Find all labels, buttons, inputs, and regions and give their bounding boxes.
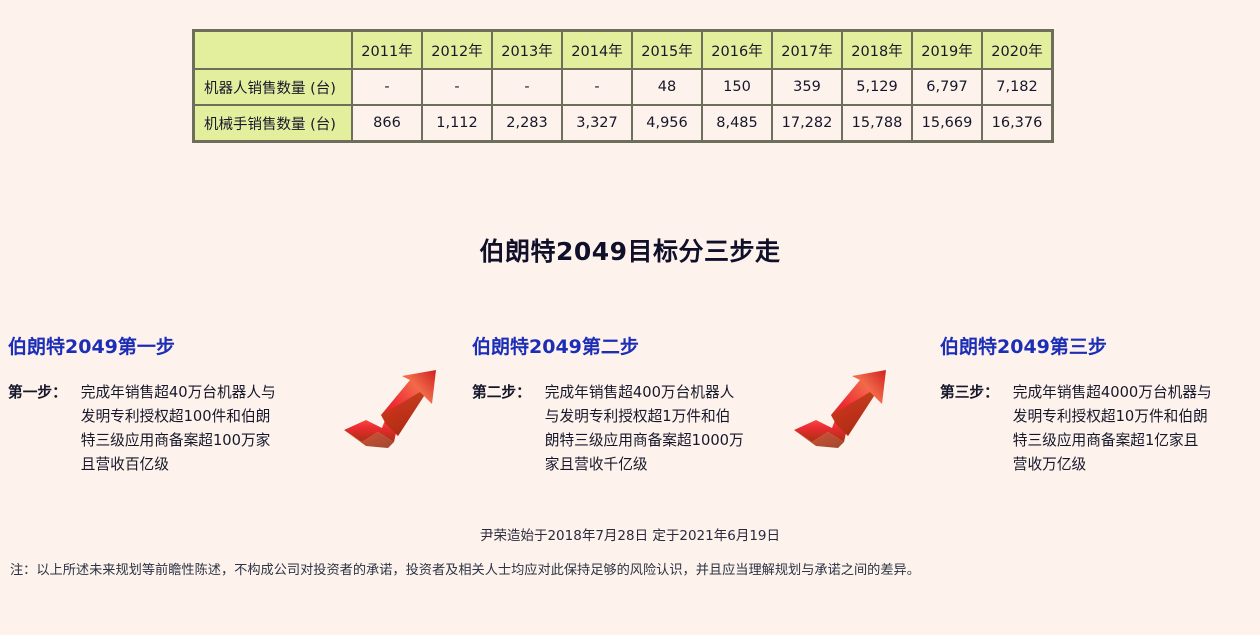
column-header-2017: 2017年 [773, 32, 841, 68]
step-block-1: 伯朗特2049第一步 第一步： 完成年销售超40万台机器人与 发明专利授权超10… [8, 332, 338, 477]
cell-manipulator-2018: 15,788 [843, 106, 911, 140]
step-2-label: 第二步： [472, 381, 545, 405]
step-2-text: 完成年销售超400万台机器人 与发明专利授权超1万件和伯 朗特三级应用商备案超1… [545, 381, 772, 477]
cell-robot-2013: - [493, 70, 561, 104]
cell-robot-2017: 359 [773, 70, 841, 104]
step-1-line-2: 发明专利授权超100件和伯朗 [81, 405, 338, 429]
column-header-2015: 2015年 [633, 32, 701, 68]
cell-robot-2012: - [423, 70, 491, 104]
step-1-heading: 伯朗特2049第一步 [8, 332, 338, 359]
step-1-line-3: 特三级应用商备案超100万家 [81, 429, 338, 453]
sales-table-body: 2011年 2012年 2013年 2014年 2015年 2016年 2017… [195, 32, 1051, 140]
step-2-heading: 伯朗特2049第二步 [472, 332, 772, 359]
cell-manipulator-2013: 2,283 [493, 106, 561, 140]
growth-arrow-icon [336, 368, 446, 460]
cell-robot-2018: 5,129 [843, 70, 911, 104]
step-3-label: 第三步： [940, 381, 1013, 405]
step-3-line-1: 完成年销售超4000万台机器与 [1013, 381, 1250, 405]
cell-robot-2015: 48 [633, 70, 701, 104]
steps-section: 伯朗特2049第一步 第一步： 完成年销售超40万台机器人与 发明专利授权超10… [0, 332, 1260, 512]
step-1-body: 第一步： 完成年销售超40万台机器人与 发明专利授权超100件和伯朗 特三级应用… [8, 381, 338, 477]
growth-arrow-icon [786, 368, 896, 460]
cell-manipulator-2011: 866 [353, 106, 421, 140]
step-3-body: 第三步： 完成年销售超4000万台机器与 发明专利授权超10万件和伯朗 特三级应… [940, 381, 1250, 477]
step-1-text: 完成年销售超40万台机器人与 发明专利授权超100件和伯朗 特三级应用商备案超1… [81, 381, 338, 477]
cell-manipulator-2016: 8,485 [703, 106, 771, 140]
cell-robot-2019: 6,797 [913, 70, 981, 104]
step-3-text: 完成年销售超4000万台机器与 发明专利授权超10万件和伯朗 特三级应用商备案超… [1013, 381, 1250, 477]
sales-table: 2011年 2012年 2013年 2014年 2015年 2016年 2017… [192, 29, 1054, 143]
step-3-heading: 伯朗特2049第三步 [940, 332, 1250, 359]
column-header-2018: 2018年 [843, 32, 911, 68]
step-2-line-2: 与发明专利授权超1万件和伯 [545, 405, 772, 429]
column-header-2014: 2014年 [563, 32, 631, 68]
cell-manipulator-2012: 1,112 [423, 106, 491, 140]
cell-robot-2011: - [353, 70, 421, 104]
column-header-2013: 2013年 [493, 32, 561, 68]
cell-manipulator-2017: 17,282 [773, 106, 841, 140]
page-title: 伯朗特2049目标分三步走 [0, 232, 1260, 268]
sales-table-container: 2011年 2012年 2013年 2014年 2015年 2016年 2017… [192, 29, 1054, 143]
step-1-line-4: 且营收百亿级 [81, 453, 338, 477]
step-2-line-3: 朗特三级应用商备案超1000万 [545, 429, 772, 453]
table-row: 机械手销售数量 (台) 866 1,112 2,283 3,327 4,956 … [195, 106, 1051, 140]
cell-robot-2014: - [563, 70, 631, 104]
column-header-2016: 2016年 [703, 32, 771, 68]
step-block-3: 伯朗特2049第三步 第三步： 完成年销售超4000万台机器与 发明专利授权超1… [940, 332, 1250, 477]
cell-manipulator-2020: 16,376 [983, 106, 1051, 140]
column-header-2012: 2012年 [423, 32, 491, 68]
step-3-line-4: 营收万亿级 [1013, 453, 1250, 477]
step-3-line-3: 特三级应用商备案超1亿家且 [1013, 429, 1250, 453]
cell-robot-2020: 7,182 [983, 70, 1051, 104]
cell-manipulator-2019: 15,669 [913, 106, 981, 140]
row-label-manipulator-sales: 机械手销售数量 (台) [195, 106, 351, 140]
credit-line: 尹荣造始于2018年7月28日 定于2021年6月19日 [0, 524, 1260, 544]
column-header-2011: 2011年 [353, 32, 421, 68]
cell-manipulator-2015: 4,956 [633, 106, 701, 140]
table-corner-cell [195, 32, 351, 68]
cell-manipulator-2014: 3,327 [563, 106, 631, 140]
row-label-robot-sales: 机器人销售数量 (台) [195, 70, 351, 104]
step-2-line-1: 完成年销售超400万台机器人 [545, 381, 772, 405]
step-1-label: 第一步： [8, 381, 81, 405]
table-row: 机器人销售数量 (台) - - - - 48 150 359 5,129 6,7… [195, 70, 1051, 104]
disclaimer-note: 注：以上所述未来规划等前瞻性陈述，不构成公司对投资者的承诺，投资者及相关人士均应… [10, 559, 920, 578]
cell-robot-2016: 150 [703, 70, 771, 104]
table-header-row: 2011年 2012年 2013年 2014年 2015年 2016年 2017… [195, 32, 1051, 68]
step-2-line-4: 家且营收千亿级 [545, 453, 772, 477]
step-3-line-2: 发明专利授权超10万件和伯朗 [1013, 405, 1250, 429]
column-header-2019: 2019年 [913, 32, 981, 68]
step-2-body: 第二步： 完成年销售超400万台机器人 与发明专利授权超1万件和伯 朗特三级应用… [472, 381, 772, 477]
column-header-2020: 2020年 [983, 32, 1051, 68]
step-block-2: 伯朗特2049第二步 第二步： 完成年销售超400万台机器人 与发明专利授权超1… [472, 332, 772, 477]
step-1-line-1: 完成年销售超40万台机器人与 [81, 381, 338, 405]
